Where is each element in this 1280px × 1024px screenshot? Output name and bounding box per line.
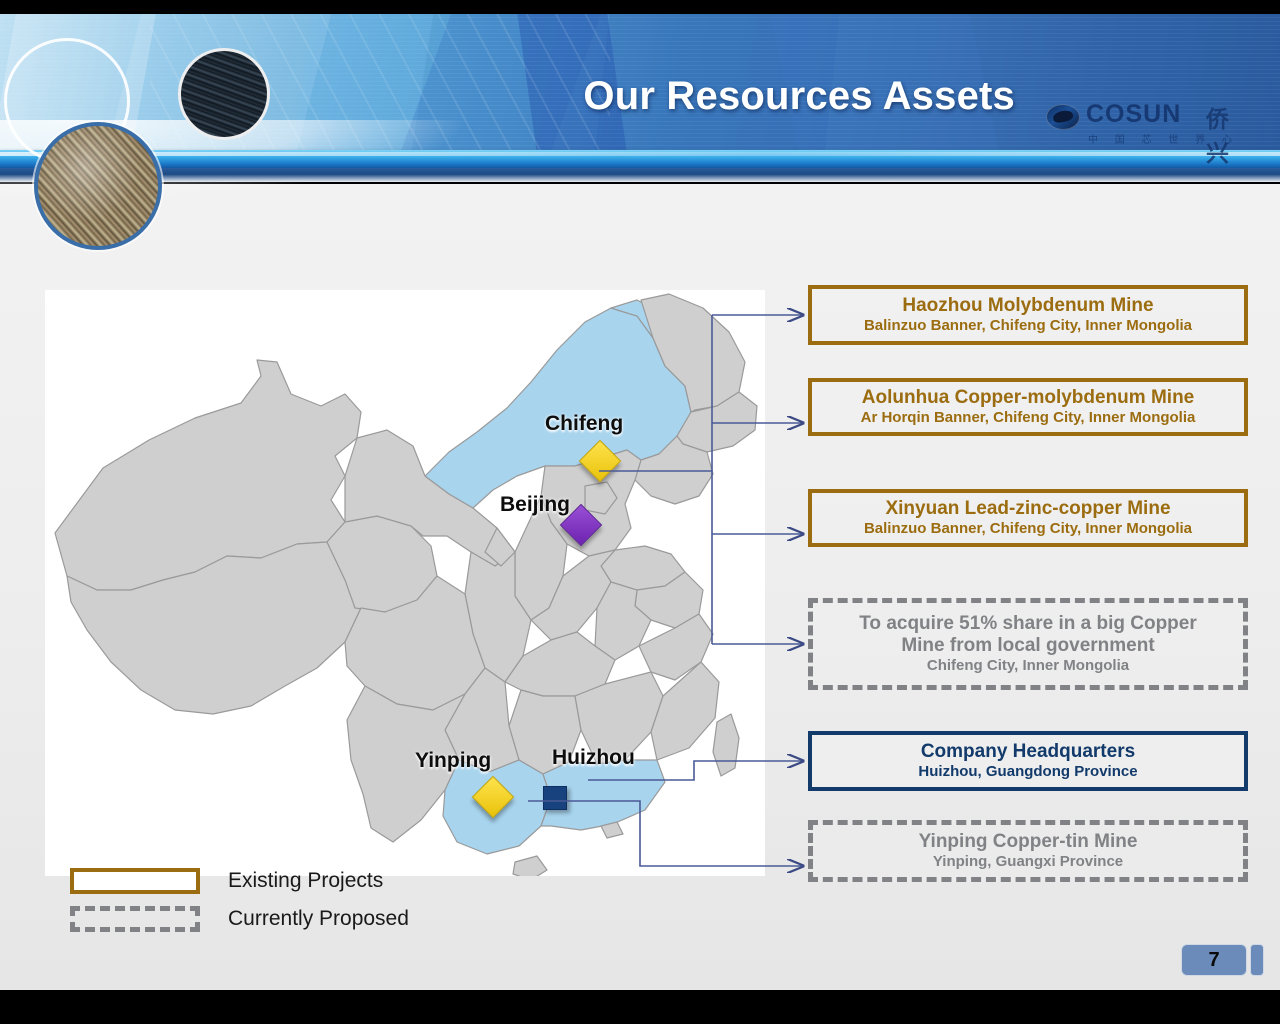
callout-subtitle: Huizhou, Guangdong Province	[812, 763, 1244, 781]
purple-diamond-icon	[560, 504, 602, 546]
province-hainan	[513, 856, 547, 876]
huizhou-hq-marker[interactable]	[543, 786, 567, 810]
chifeng-mine-marker[interactable]	[585, 446, 615, 476]
cosun-logo-text: COSUN	[1086, 100, 1181, 129]
callout-company-headquarters[interactable]: Company Headquarters Huizhou, Guangdong …	[808, 731, 1248, 791]
callout-title: To acquire 51% share in a big Copper Min…	[813, 613, 1243, 658]
legend-label: Existing Projects	[228, 869, 383, 893]
callout-proposed-copper-mine-acquisition[interactable]: To acquire 51% share in a big Copper Min…	[808, 598, 1248, 690]
blue-square-icon	[543, 786, 567, 810]
legend-swatch-proposed-icon	[70, 906, 200, 932]
page-title: Our Resources Assets	[0, 74, 1015, 119]
legend-label: Currently Proposed	[228, 907, 409, 931]
cosun-logo-tagline: 中 国 芯 世 界 心	[1088, 131, 1239, 146]
callout-aolunhua-copper-molybdenum-mine[interactable]: Aolunhua Copper-molybdenum Mine Ar Horqi…	[808, 378, 1248, 436]
yinping-mine-marker[interactable]	[478, 782, 508, 812]
callout-subtitle: Ar Horqin Banner, Chifeng City, Inner Mo…	[812, 409, 1244, 427]
callout-subtitle: Balinzuo Banner, Chifeng City, Inner Mon…	[812, 317, 1244, 335]
map-legend: Existing Projects Currently Proposed	[70, 862, 409, 938]
legend-item-existing-projects: Existing Projects	[70, 862, 409, 900]
callout-subtitle: Yinping, Guangxi Province	[813, 853, 1243, 871]
legend-swatch-existing-icon	[70, 868, 200, 894]
callout-title: Company Headquarters	[812, 741, 1244, 763]
city-label-huizhou: Huizhou	[552, 746, 635, 770]
cosun-logo: COSUN 侨兴 中 国 芯 世 界 心	[1046, 100, 1246, 152]
callout-subtitle: Balinzuo Banner, Chifeng City, Inner Mon…	[812, 520, 1244, 538]
banner-navy-strip	[0, 168, 1280, 182]
city-label-chifeng: Chifeng	[545, 412, 623, 436]
province-fujian	[651, 662, 719, 760]
city-label-beijing: Beijing	[500, 493, 570, 517]
legend-item-currently-proposed: Currently Proposed	[70, 900, 409, 938]
callout-title: Xinyuan Lead-zinc-copper Mine	[812, 498, 1244, 520]
page-number: 7	[1181, 944, 1247, 976]
cosun-logo-mark-icon	[1046, 104, 1080, 130]
slide-root: Our Resources Assets COSUN 侨兴 中 国 芯 世 界 …	[0, 0, 1280, 1024]
callout-yinping-copper-tin-mine[interactable]: Yinping Copper-tin Mine Yinping, Guangxi…	[808, 820, 1248, 882]
yellow-diamond-icon	[579, 440, 621, 482]
page-number-tab	[1250, 944, 1264, 976]
beijing-office-marker[interactable]	[566, 510, 596, 540]
callout-title: Haozhou Molybdenum Mine	[812, 295, 1244, 317]
callout-subtitle: Chifeng City, Inner Mongolia	[813, 657, 1243, 675]
callout-xinyuan-lead-zinc-copper-mine[interactable]: Xinyuan Lead-zinc-copper Mine Balinzuo B…	[808, 489, 1248, 547]
city-label-yinping: Yinping	[415, 749, 491, 773]
bottom-letterbox-bar	[0, 990, 1280, 1024]
province-taiwan	[713, 714, 739, 776]
callout-title: Aolunhua Copper-molybdenum Mine	[812, 387, 1244, 409]
china-map-svg	[45, 290, 765, 876]
callout-title: Yinping Copper-tin Mine	[813, 831, 1243, 853]
callout-haozhou-molybdenum-mine[interactable]: Haozhou Molybdenum Mine Balinzuo Banner,…	[808, 285, 1248, 345]
page-number-group: 7	[1181, 944, 1264, 976]
yellow-diamond-icon	[472, 776, 514, 818]
china-map: Chifeng Beijing Yinping Huizhou	[45, 290, 765, 876]
mineral-rock-photo-circle-icon	[34, 122, 162, 250]
banner-swoosh-highlight	[0, 152, 1280, 156]
